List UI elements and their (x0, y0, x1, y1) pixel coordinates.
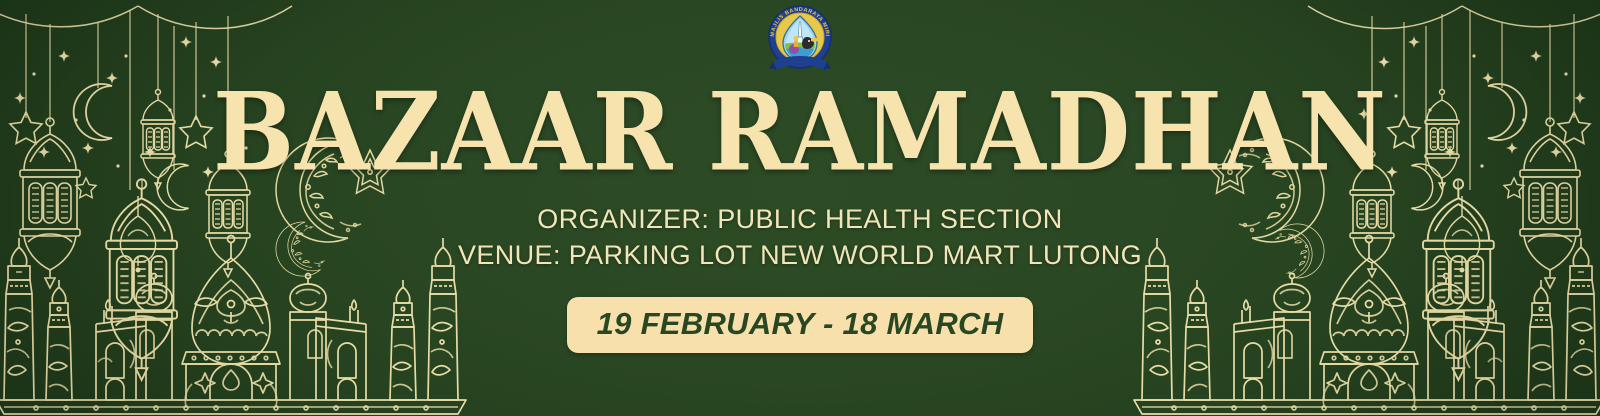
ramadhan-bazaar-banner: MAJLIS BANDARAYA MIRI BAZAAR RAMADHAN OR… (0, 0, 1600, 416)
page-title: BAZAAR RAMADHAN (213, 79, 1387, 187)
banner-content: MAJLIS BANDARAYA MIRI BAZAAR RAMADHAN OR… (0, 0, 1600, 416)
venue-line: VENUE: PARKING LOT NEW WORLD MART LUTONG (458, 237, 1142, 273)
date-range-badge: 19 FEBRUARY - 18 MARCH (567, 297, 1034, 353)
organizer-line: ORGANIZER: PUBLIC HEALTH SECTION (458, 201, 1142, 237)
event-details: ORGANIZER: PUBLIC HEALTH SECTION VENUE: … (458, 201, 1142, 273)
